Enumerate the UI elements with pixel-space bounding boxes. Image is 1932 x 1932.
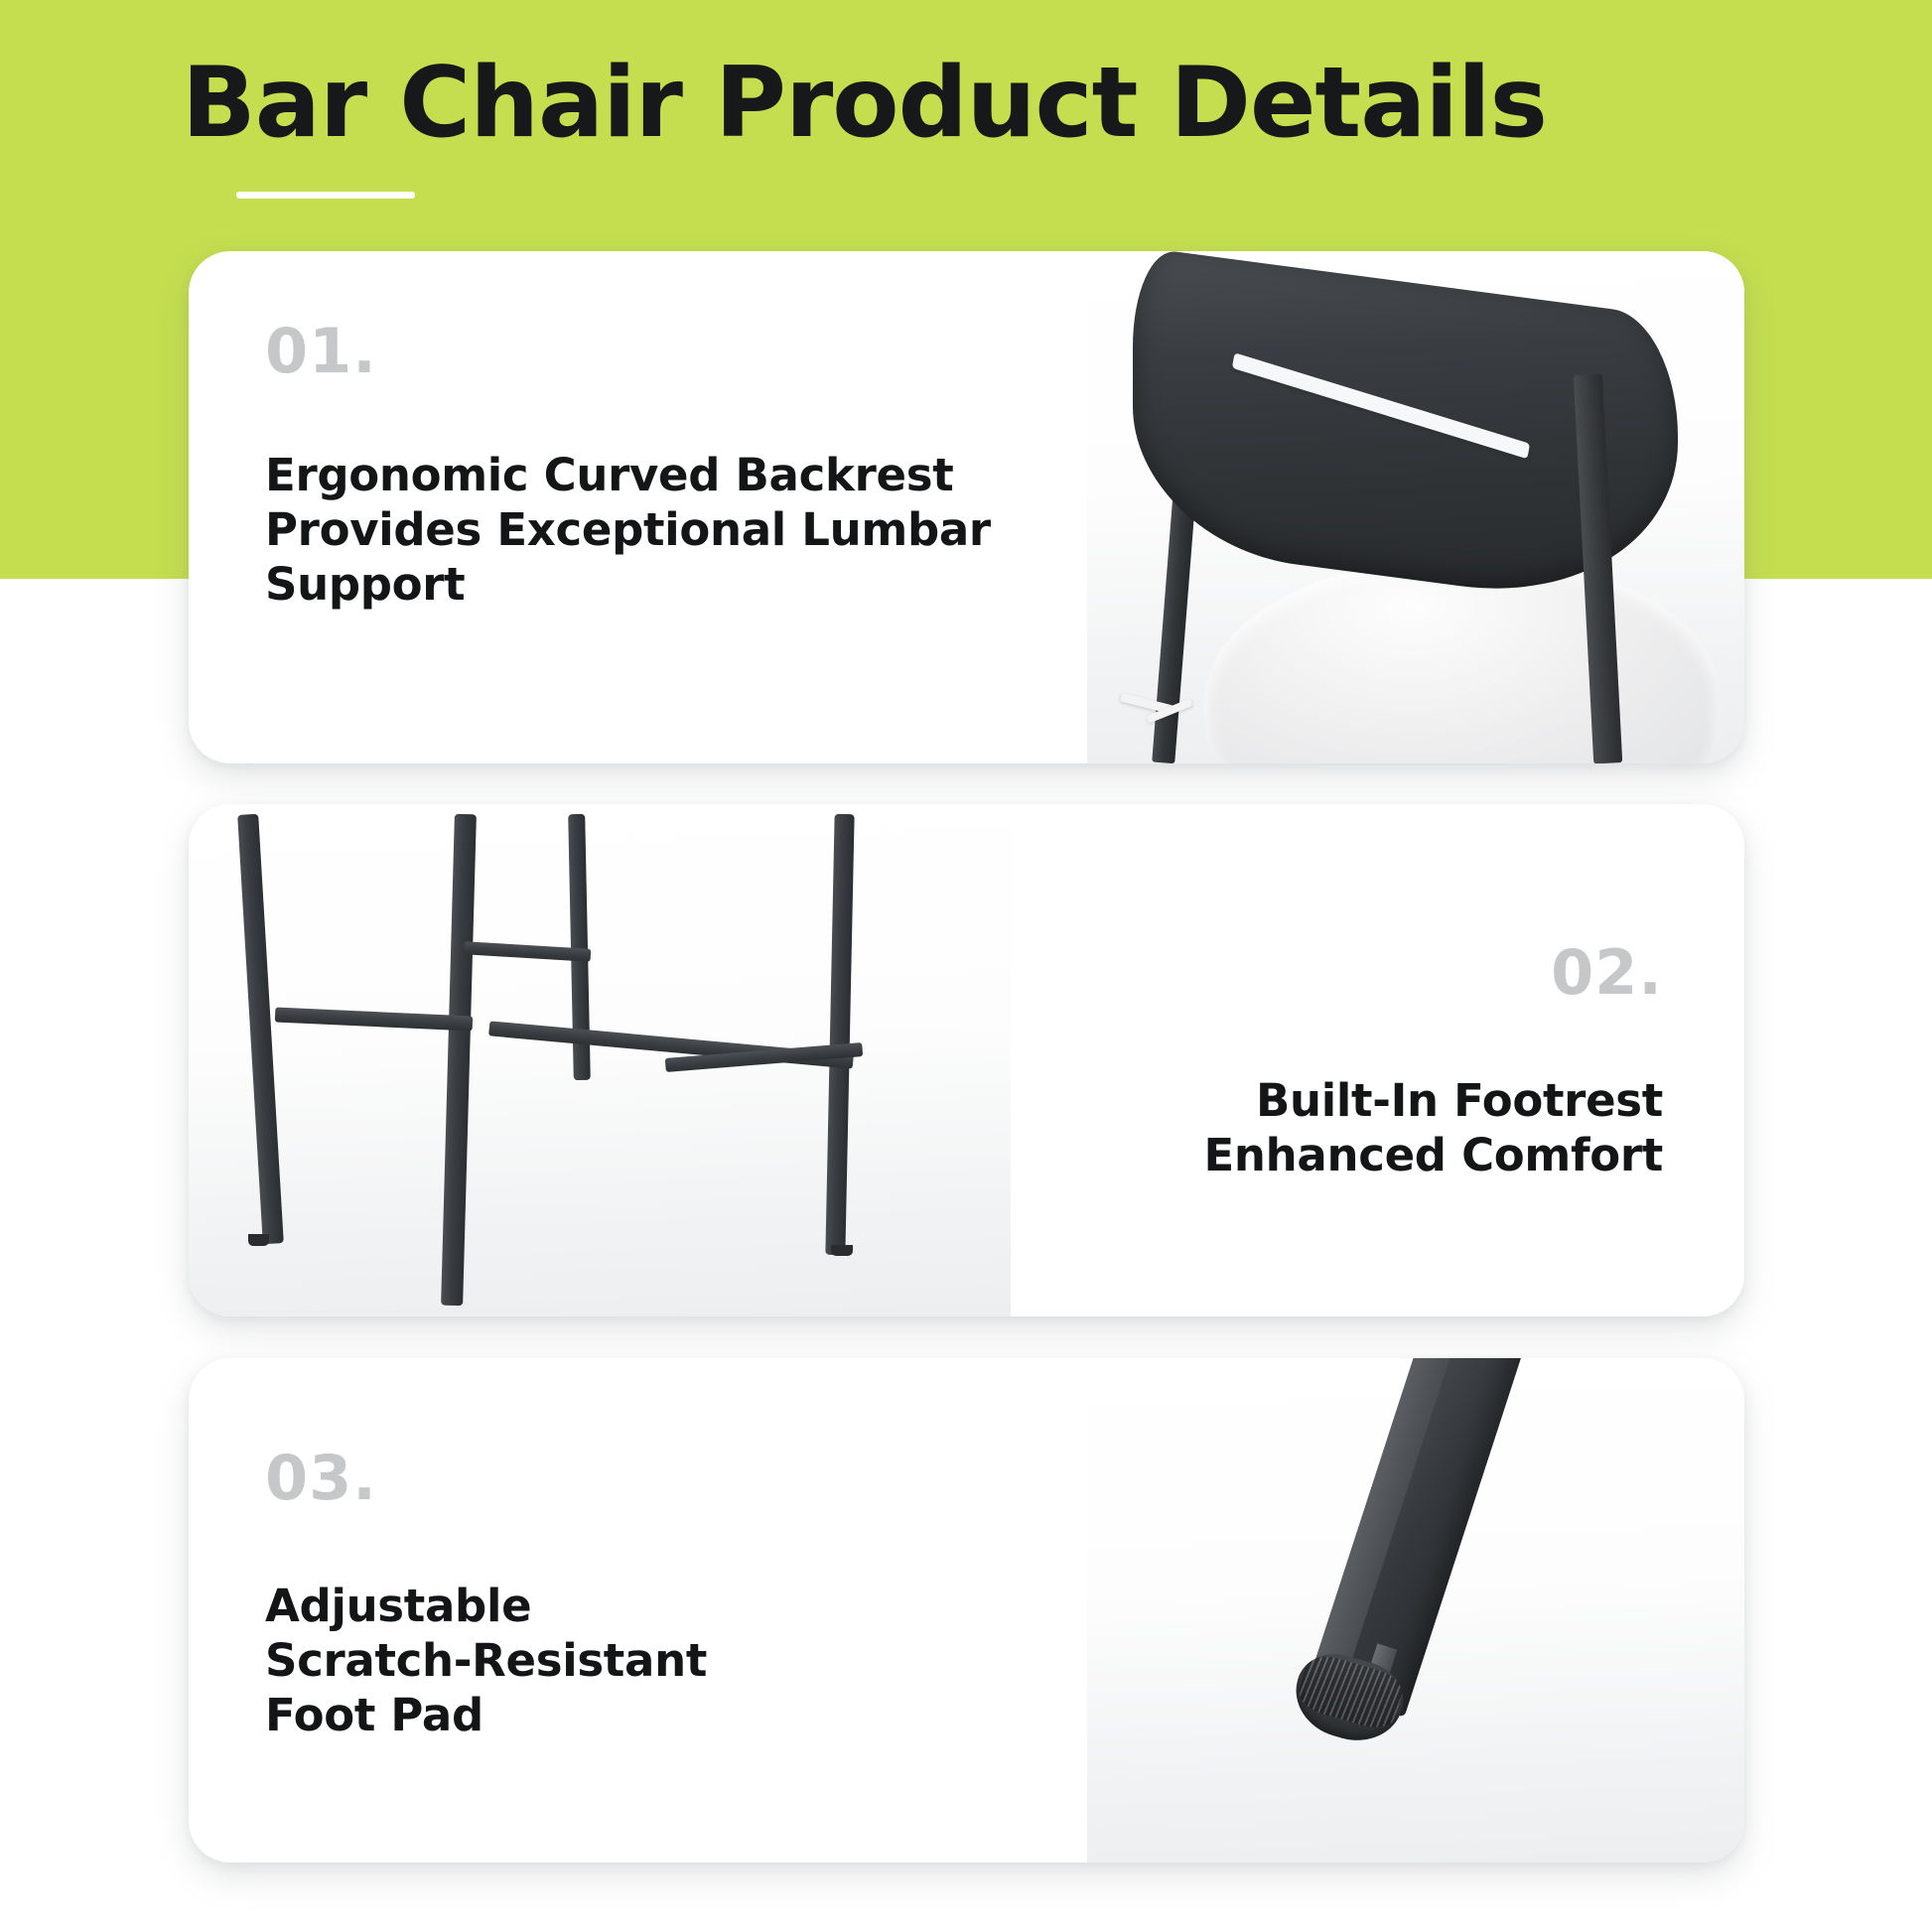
cushion-tie-string-shape — [1120, 692, 1212, 733]
card-02-product-photo — [189, 804, 1011, 1316]
footrest-photo-scene — [189, 804, 1011, 1316]
page-title: Bar Chair Product Details — [182, 48, 1547, 159]
card-01-number: 01. — [265, 317, 1047, 386]
card-02-heading-line-1: Built-In Footrest — [1040, 1073, 1663, 1128]
foot-pad-photo-scene — [1087, 1358, 1744, 1863]
detail-card-02: 02. Built-In Footrest Enhanced Comfort — [189, 804, 1744, 1316]
card-03-heading-line-2: Scratch-Resistant — [265, 1633, 1047, 1688]
detail-card-03: 03. Adjustable Scratch-Resistant Foot Pa… — [189, 1358, 1744, 1863]
card-01-heading-line-1: Ergonomic Curved Backrest — [265, 448, 1047, 502]
card-02-heading: Built-In Footrest Enhanced Comfort — [1040, 1073, 1663, 1182]
card-03-heading: Adjustable Scratch-Resistant Foot Pad — [265, 1579, 1047, 1742]
title-underline-accent — [236, 192, 415, 199]
backrest-photo-scene — [1087, 251, 1744, 763]
card-03-heading-line-3: Foot Pad — [265, 1688, 1047, 1742]
backrest-slot-cutout-shape — [1232, 352, 1530, 459]
card-03-text-block: 03. Adjustable Scratch-Resistant Foot Pa… — [189, 1358, 1087, 1863]
card-01-heading: Ergonomic Curved Backrest Provides Excep… — [265, 448, 1047, 612]
card-03-product-photo — [1087, 1358, 1744, 1863]
photo-backdrop — [189, 804, 1011, 1316]
leg-foot-cap-left-shape — [248, 1234, 270, 1245]
card-02-heading-line-2: Enhanced Comfort — [1040, 1128, 1663, 1182]
card-01-heading-line-2: Provides Exceptional Lumbar — [265, 502, 1047, 557]
card-01-product-photo — [1087, 251, 1744, 763]
card-01-heading-line-3: Support — [265, 557, 1047, 612]
card-03-number: 03. — [265, 1444, 1047, 1513]
card-02-number: 02. — [1040, 938, 1663, 1008]
card-02-text-block: 02. Built-In Footrest Enhanced Comfort — [1011, 804, 1744, 1316]
leg-foot-cap-right-shape — [831, 1245, 853, 1256]
card-03-heading-line-1: Adjustable — [265, 1579, 1047, 1633]
card-01-text-block: 01. Ergonomic Curved Backrest Provides E… — [189, 251, 1087, 763]
detail-card-01: 01. Ergonomic Curved Backrest Provides E… — [189, 251, 1744, 763]
